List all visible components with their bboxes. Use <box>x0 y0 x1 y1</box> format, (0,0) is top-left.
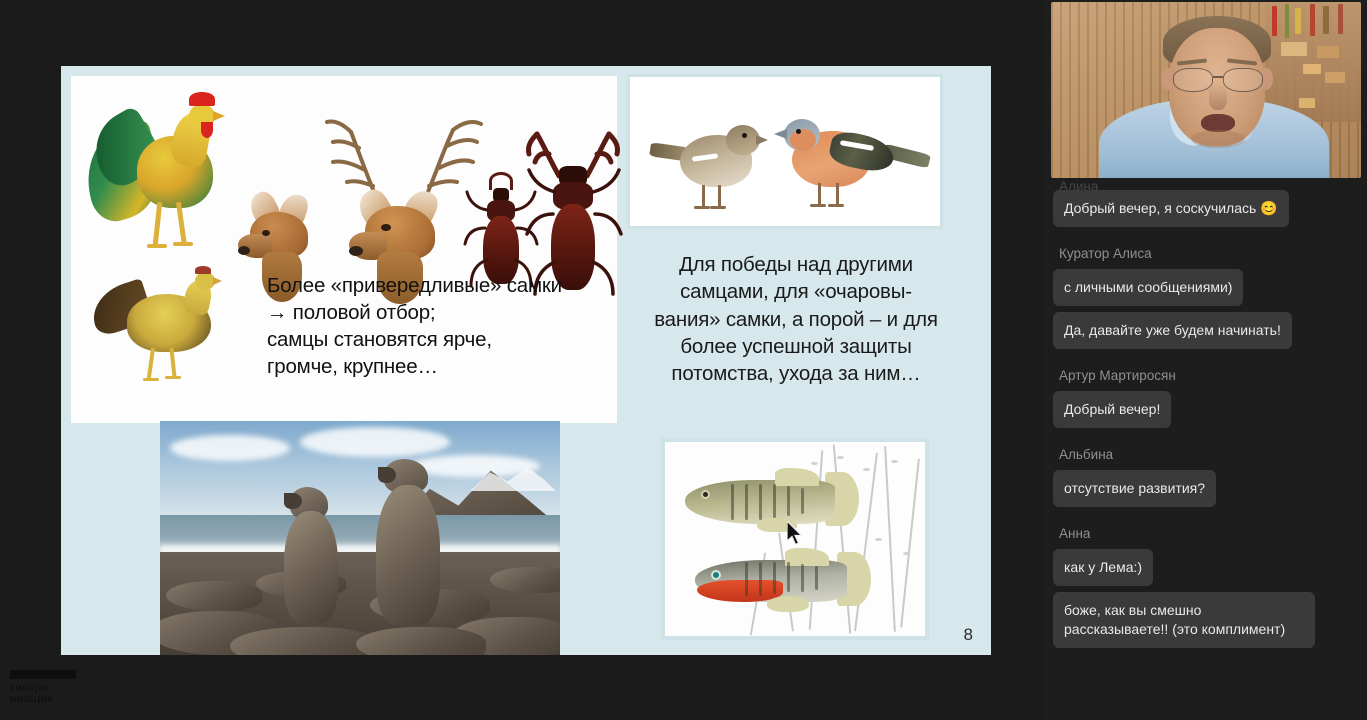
chat-message-bubble[interactable]: Добрый вечер! <box>1053 391 1171 428</box>
slide-canvas[interactable]: Более «привередливые» самки → половой от… <box>61 66 991 655</box>
slide-panel-birds <box>627 74 943 229</box>
chat-sender-name: Куратор Алиса <box>1053 241 1359 269</box>
participant-video-tile[interactable] <box>1051 2 1361 178</box>
slide-page-number: 8 <box>964 625 973 645</box>
male-chaffinch <box>770 107 930 217</box>
chat-message-group: Артур МартиросянДобрый вечер! <box>1053 363 1359 434</box>
eyeglasses-left-lens <box>1173 68 1213 92</box>
chat-message-bubble[interactable]: Добрый вечер, я соскучилась 😊 <box>1053 190 1289 227</box>
chat-message-group: Альбинаотсутствие развития? <box>1053 442 1359 513</box>
chat-sender-name: Артур Мартиросян <box>1053 363 1359 391</box>
chat-message-list[interactable]: АлинаДобрый вечер, я соскучилась 😊Курато… <box>1045 178 1367 720</box>
hen-illustration <box>91 268 231 398</box>
brand-watermark: синхро низация <box>10 670 130 704</box>
watermark-bar <box>10 670 76 679</box>
chat-message-group: Куратор Алисас личными сообщениями)Да, д… <box>1053 241 1359 355</box>
victory-caption: Для победы над другими самцами, для «оча… <box>626 251 966 387</box>
chat-message-group: АлинаДобрый вечер, я соскучилась 😊 <box>1053 178 1359 233</box>
slide-panel-elephant-seals <box>160 421 560 655</box>
sidebar: АлинаДобрый вечер, я соскучилась 😊Курато… <box>1045 0 1367 720</box>
chat-message-group: Аннакак у Лема:)боже, как вы смешно расс… <box>1053 521 1359 654</box>
chat-message-bubble[interactable]: Да, давайте уже будем начинать! <box>1053 312 1292 349</box>
male-stickleback <box>687 548 897 622</box>
eyeglasses-right-lens <box>1223 68 1263 92</box>
chat-sender-name: Анна <box>1053 521 1359 549</box>
chat-message-bubble[interactable]: как у Лема:) <box>1053 549 1153 586</box>
chat-message-bubble[interactable]: с личными сообщениями) <box>1053 269 1243 306</box>
female-stickleback <box>679 466 879 540</box>
chat-message-bubble[interactable]: боже, как вы смешно рассказываете!! (это… <box>1053 592 1315 648</box>
presentation-stage[interactable]: Более «привередливые» самки → половой от… <box>0 0 1045 720</box>
screen-root: Более «привередливые» самки → половой от… <box>0 0 1367 720</box>
chat-sender-name: Альбина <box>1053 442 1359 470</box>
watermark-line-2: низация <box>10 693 130 704</box>
animals-caption: Более «привередливые» самки → половой от… <box>267 272 607 380</box>
rooster-illustration <box>85 90 235 270</box>
mouse-cursor <box>787 521 805 547</box>
female-chaffinch <box>650 115 780 215</box>
chat-message-bubble[interactable]: отсутствие развития? <box>1053 470 1216 507</box>
chat-sender-name: Алина <box>1053 178 1359 190</box>
slide-panel-animals: Более «привередливые» самки → половой от… <box>71 76 617 423</box>
